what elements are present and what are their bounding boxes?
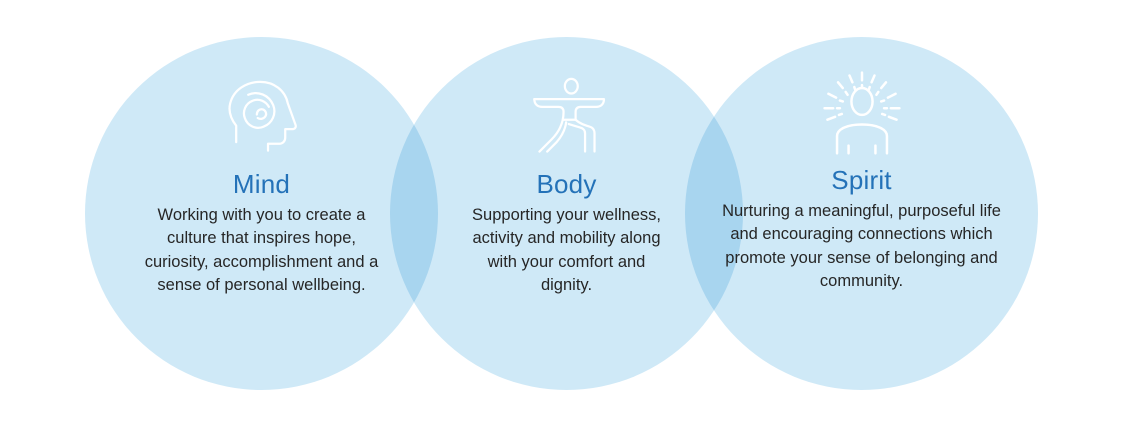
venn-description-spirit: Nurturing a meaningful, purposeful life … <box>722 200 1002 294</box>
yoga-figure-icon <box>524 75 610 161</box>
head-spiral-icon <box>219 75 305 161</box>
venn-title-spirit: Spirit <box>831 165 891 196</box>
venn-diagram: Mind Working with you to create a cultur… <box>0 0 1125 431</box>
person-radiating-icon <box>814 65 910 161</box>
venn-title-body: Body <box>536 169 596 200</box>
venn-description-body: Supporting your wellness, activity and m… <box>462 204 672 298</box>
venn-section-spirit: Spirit Nurturing a meaningful, purposefu… <box>685 37 1038 390</box>
venn-description-mind: Working with you to create a culture tha… <box>137 204 387 298</box>
venn-section-mind: Mind Working with you to create a cultur… <box>85 37 438 390</box>
venn-title-mind: Mind <box>233 169 290 200</box>
